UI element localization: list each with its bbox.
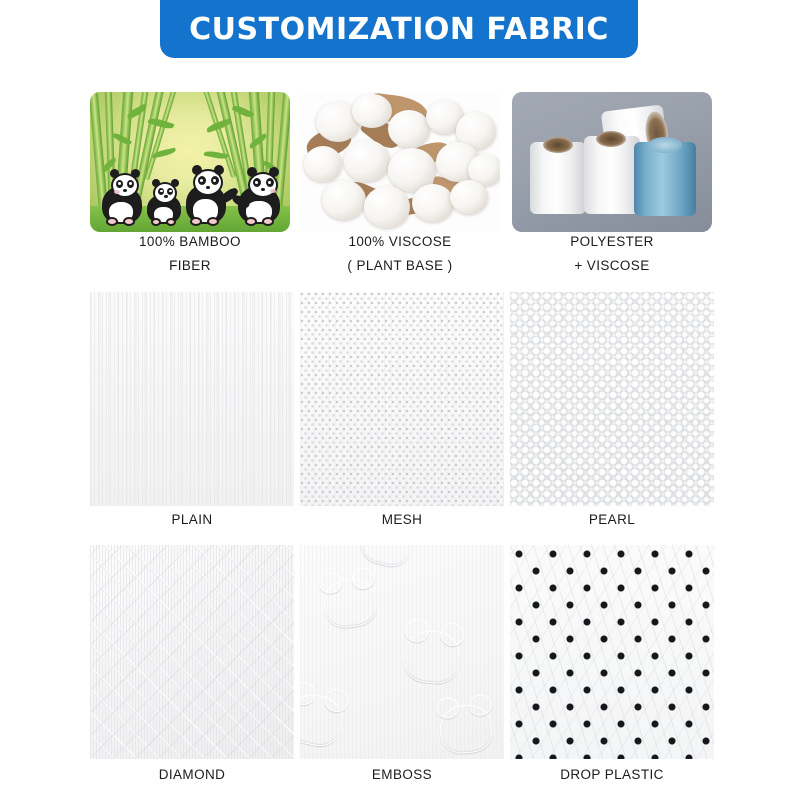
diamond-texture-swatch xyxy=(90,545,294,759)
texture-caption: MESH xyxy=(300,512,504,527)
material-caption-line1: POLYESTER xyxy=(512,234,712,249)
texture-card-emboss[interactable]: EMBOSS xyxy=(300,545,504,800)
texture-caption: DIAMOND xyxy=(90,767,294,782)
panda-figure xyxy=(147,184,183,224)
bamboo-panda-illustration xyxy=(90,92,290,232)
panda-figure xyxy=(238,174,286,224)
emboss-texture-swatch xyxy=(300,545,504,759)
texture-caption: DROP PLASTIC xyxy=(510,767,714,782)
texture-card-mesh[interactable]: MESH xyxy=(300,292,504,542)
plain-texture-swatch xyxy=(90,292,294,506)
material-caption-line2: FIBER xyxy=(90,258,290,273)
mesh-texture-swatch xyxy=(300,292,504,506)
material-caption-line1: 100% VISCOSE xyxy=(300,234,500,249)
materials-row: 100% BAMBOO FIBER 100% V xyxy=(0,92,800,282)
material-card-polyester-viscose[interactable]: POLYESTER + VISCOSE xyxy=(512,92,712,282)
drop-plastic-texture-swatch xyxy=(510,545,714,759)
textures-upper-row: PLAIN MESH PEARL xyxy=(0,292,800,542)
texture-card-drop-plastic[interactable]: DROP PLASTIC xyxy=(510,545,714,800)
texture-caption: PLAIN xyxy=(90,512,294,527)
panda-figure xyxy=(186,172,234,224)
texture-caption: PEARL xyxy=(510,512,714,527)
material-caption-line2: + VISCOSE xyxy=(512,258,712,273)
fabric-roll-white-middle xyxy=(584,136,640,214)
material-caption-line1: 100% BAMBOO xyxy=(90,234,290,249)
texture-card-pearl[interactable]: PEARL xyxy=(510,292,714,542)
textures-lower-row: DIAMOND EMBOSS DROP PLASTIC xyxy=(0,545,800,800)
texture-card-plain[interactable]: PLAIN xyxy=(90,292,294,542)
pearl-texture-swatch xyxy=(510,292,714,506)
texture-caption: EMBOSS xyxy=(300,767,504,782)
fabric-rolls-photo xyxy=(512,92,712,232)
material-caption-line2: ( PLANT BASE ) xyxy=(300,258,500,273)
texture-card-diamond[interactable]: DIAMOND xyxy=(90,545,294,800)
page-header-banner: CUSTOMIZATION FABRIC xyxy=(160,0,638,58)
page-title: CUSTOMIZATION FABRIC xyxy=(189,12,609,47)
cotton-bolls-photo xyxy=(300,92,500,232)
material-card-bamboo[interactable]: 100% BAMBOO FIBER xyxy=(90,92,290,282)
material-card-viscose[interactable]: 100% VISCOSE ( PLANT BASE ) xyxy=(300,92,500,282)
panda-figure xyxy=(102,174,146,224)
fabric-roll-blue xyxy=(634,142,696,216)
fabric-roll-white-left xyxy=(530,142,586,214)
